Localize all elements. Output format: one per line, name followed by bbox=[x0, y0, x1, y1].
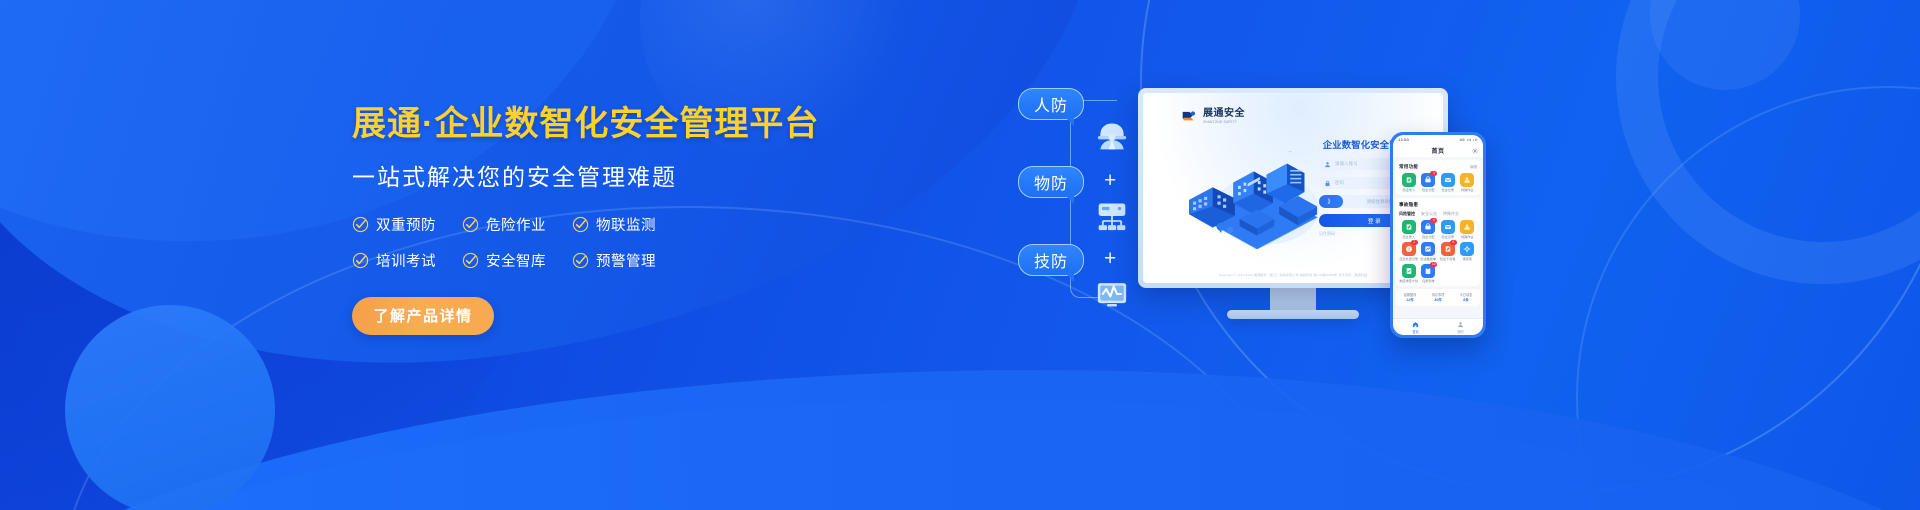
hero-banner: 展通·企业数智化安全管理平台 一站式解决您的安全管理难题 双重预防 危险作业 bbox=[0, 0, 1920, 510]
kpi-value: 12件 bbox=[1406, 298, 1414, 303]
tabbar-item-home[interactable]: 首页 bbox=[1412, 321, 1419, 334]
home-icon bbox=[1412, 321, 1419, 328]
tab-item[interactable]: 风险管控 bbox=[1399, 211, 1415, 217]
phone-page-title: 首页 bbox=[1431, 146, 1444, 155]
tabbar-item-profile[interactable]: 我的 bbox=[1457, 321, 1464, 334]
app-tile[interactable]: 2 应急处置记录 bbox=[1399, 242, 1419, 261]
kpi-item: 今日动态 8条 bbox=[1460, 292, 1473, 303]
badge-label: 物防 bbox=[1034, 170, 1068, 194]
phone-tab-bar: 首页 我的 bbox=[1393, 318, 1483, 335]
app-tile-label: 隐患整改单 bbox=[1421, 258, 1436, 262]
tabbar-label: 首页 bbox=[1412, 329, 1418, 334]
badge-count: 4 bbox=[1430, 171, 1437, 176]
app-tile-label: 隐患录入 bbox=[1403, 236, 1415, 240]
app-tile[interactable]: 特殊作业 bbox=[1458, 173, 1478, 192]
kpi-value: 36件 bbox=[1434, 298, 1442, 303]
section-header: 常用功能 编辑 bbox=[1399, 164, 1477, 170]
tab-item[interactable]: 特殊作业 bbox=[1443, 211, 1459, 217]
status-indicators: 46 ıll ıll bbox=[1460, 137, 1478, 142]
kpi-item: 逾期整改 12件 bbox=[1404, 292, 1417, 303]
waveform-monitor-icon bbox=[1092, 274, 1132, 314]
feature-item: 预警管理 bbox=[572, 250, 678, 271]
brand-name-en: ZHANTONG SAFETY bbox=[1203, 121, 1245, 124]
gear-icon[interactable] bbox=[1472, 148, 1478, 154]
edit-doc-icon: 6 bbox=[1441, 242, 1455, 256]
device-showcase: 人防 + 物防 + bbox=[1010, 60, 1870, 460]
feature-item: 物联监测 bbox=[572, 214, 678, 235]
page-subtitle: 一站式解决您的安全管理难题 bbox=[352, 158, 822, 192]
badge-jifang[interactable]: 技防 bbox=[1018, 244, 1084, 276]
zhantong-logo-icon bbox=[1181, 109, 1198, 124]
app-tile-label: 应急处置记录 bbox=[1399, 258, 1418, 262]
username-placeholder: 请输入账号 bbox=[1335, 161, 1358, 167]
lock-icon bbox=[1324, 180, 1331, 187]
phone-status-bar: 13:50 46 ıll ıll bbox=[1393, 135, 1483, 144]
phone-section-common: 常用功能 编辑 隐患录入 4 bbox=[1396, 160, 1480, 195]
app-tile[interactable]: 特殊作业 bbox=[1458, 220, 1478, 239]
worker-helmet-icon bbox=[1092, 116, 1132, 156]
app-tile[interactable]: 10 任务安排 bbox=[1419, 264, 1439, 283]
badge-label: 技防 bbox=[1034, 248, 1068, 272]
app-tile-label: 隐患不合格 bbox=[1440, 258, 1455, 262]
phone-app-header: 首页 bbox=[1393, 144, 1483, 157]
feature-label: 安全智库 bbox=[486, 250, 546, 271]
chart-icon bbox=[1421, 242, 1435, 256]
app-tile-label: 隐患记录 bbox=[1442, 189, 1454, 193]
phone-section-hazard: 事故隐患 风险管控 安全公告 特殊作业 隐患录入 bbox=[1396, 198, 1480, 286]
feature-label: 危险作业 bbox=[486, 214, 546, 235]
app-tile[interactable]: 隐患整改单 bbox=[1419, 242, 1439, 261]
gear-icon bbox=[1460, 242, 1474, 256]
app-tile-label: 特殊作业 bbox=[1461, 189, 1473, 193]
app-tile-label: 隐患分配 bbox=[1422, 189, 1434, 193]
phone-screen: 13:50 46 ıll ıll 首页 常用功能 编辑 bbox=[1393, 135, 1483, 335]
kpi-label: 待办事项 bbox=[1432, 292, 1445, 297]
badge-count: 6 bbox=[1450, 240, 1457, 245]
warning-icon bbox=[1460, 220, 1474, 234]
tabbar-label: 我的 bbox=[1457, 329, 1463, 334]
password-placeholder: 密码 bbox=[1335, 180, 1344, 186]
app-tile[interactable]: 排查项 bbox=[1458, 242, 1478, 261]
assign-icon: 4 bbox=[1421, 220, 1435, 234]
app-tile-label: 隐患记录 bbox=[1442, 236, 1454, 240]
feature-label: 双重预防 bbox=[376, 214, 436, 235]
mobile-phone-mockup: 13:50 46 ıll ıll 首页 常用功能 编辑 bbox=[1390, 132, 1486, 338]
section-title: 事故隐患 bbox=[1399, 202, 1418, 208]
kpi-label: 逾期整改 bbox=[1404, 292, 1417, 297]
app-tile[interactable]: 4 隐患分配 bbox=[1419, 220, 1439, 239]
feature-item: 安全智库 bbox=[462, 250, 568, 271]
app-tile-label: 隐患录入 bbox=[1403, 189, 1415, 193]
app-tile-label: 隐患分配 bbox=[1422, 236, 1434, 240]
check-circle-icon bbox=[462, 252, 479, 269]
app-tile[interactable]: 隐患记录 bbox=[1438, 173, 1458, 192]
isometric-city-illustration bbox=[1177, 151, 1337, 249]
monitor-stand-neck bbox=[1270, 288, 1316, 310]
warning-icon bbox=[1460, 173, 1474, 187]
app-tile[interactable]: 隐患记录 bbox=[1438, 220, 1458, 239]
monitor-brand: 展通安全 ZHANTONG SAFETY bbox=[1181, 109, 1245, 124]
assign-icon: 4 bbox=[1421, 173, 1435, 187]
app-tile-label: 排查项 bbox=[1463, 258, 1472, 262]
section-header: 事故隐患 bbox=[1399, 202, 1477, 208]
badge-count: 4 bbox=[1430, 218, 1437, 223]
app-tile[interactable]: 4 隐患分配 bbox=[1419, 173, 1439, 192]
check-circle-icon bbox=[572, 252, 589, 269]
app-tile-label: 特殊作业 bbox=[1461, 236, 1473, 240]
mail-icon bbox=[1441, 173, 1455, 187]
section-title: 常用功能 bbox=[1399, 164, 1418, 170]
check-circle-icon bbox=[352, 252, 369, 269]
mail-icon bbox=[1441, 220, 1455, 234]
kpi-value: 8条 bbox=[1463, 298, 1469, 303]
accent-circle-bottom-left bbox=[65, 305, 275, 510]
brand-text: 展通安全 ZHANTONG SAFETY bbox=[1203, 109, 1245, 124]
remember-password-checkbox[interactable]: 记住密码 bbox=[1319, 231, 1335, 237]
kpi-item: 待办事项 36件 bbox=[1432, 292, 1445, 303]
network-device-icon bbox=[1092, 196, 1132, 236]
badge-label: 人防 bbox=[1034, 92, 1068, 116]
edit-doc-icon bbox=[1402, 220, 1416, 234]
badge-wufang[interactable]: 物防 bbox=[1018, 166, 1084, 198]
icon-grid: 隐患录入 4 隐患分配 bbox=[1399, 220, 1477, 283]
app-tile[interactable]: 隐患录入 bbox=[1399, 173, 1419, 192]
feature-item: 双重预防 bbox=[352, 214, 458, 235]
icon-grid: 隐患录入 4 隐患分配 bbox=[1399, 173, 1477, 192]
status-time: 13:50 bbox=[1398, 137, 1409, 142]
plus-sign: + bbox=[1104, 248, 1116, 269]
phone-kpi-row: 逾期整改 12件 待办事项 36件 今日动态 8条 bbox=[1396, 289, 1480, 306]
app-tile[interactable]: 隐患录入 bbox=[1399, 220, 1419, 239]
check-circle-icon bbox=[462, 216, 479, 233]
learn-more-button[interactable]: 了解产品详情 bbox=[352, 297, 494, 335]
app-tile[interactable]: 制定排查计划 bbox=[1399, 264, 1419, 283]
person-icon bbox=[1457, 321, 1464, 328]
feature-label: 预警管理 bbox=[596, 250, 656, 271]
feature-label: 物联监测 bbox=[596, 214, 656, 235]
kpi-label: 今日动态 bbox=[1460, 292, 1473, 297]
badge-count: 10 bbox=[1430, 262, 1437, 267]
plus-sign: + bbox=[1104, 170, 1116, 191]
feature-list: 双重预防 危险作业 物联监测 bbox=[352, 214, 822, 271]
brand-name-cn: 展通安全 bbox=[1203, 109, 1245, 119]
check-circle-icon bbox=[352, 216, 369, 233]
badge-renfang[interactable]: 人防 bbox=[1018, 88, 1084, 120]
feature-item: 危险作业 bbox=[462, 214, 568, 235]
check-doc-icon bbox=[1402, 264, 1416, 278]
protection-rail: 人防 + 物防 + bbox=[1010, 78, 1150, 328]
app-tile[interactable]: 6 隐患不合格 bbox=[1438, 242, 1458, 261]
user-icon bbox=[1324, 161, 1331, 168]
badge-count: 2 bbox=[1411, 240, 1418, 245]
app-tile-label: 任务安排 bbox=[1422, 280, 1434, 284]
slider-knob[interactable]: 》 bbox=[1319, 195, 1343, 208]
tab-item[interactable]: 安全公告 bbox=[1421, 211, 1437, 217]
app-tile-label: 制定排查计划 bbox=[1399, 280, 1418, 284]
check-circle-icon bbox=[572, 216, 589, 233]
clipboard-icon: 10 bbox=[1421, 264, 1435, 278]
feature-label: 培训考试 bbox=[376, 250, 436, 271]
hero-copy: 展通·企业数智化安全管理平台 一站式解决您的安全管理难题 双重预防 危险作业 bbox=[352, 104, 822, 335]
alert-icon: 2 bbox=[1402, 242, 1416, 256]
feature-item: 培训考试 bbox=[352, 250, 458, 271]
page-title: 展通·企业数智化安全管理平台 bbox=[352, 104, 822, 145]
edit-doc-icon bbox=[1402, 173, 1416, 187]
section-edit-link[interactable]: 编辑 bbox=[1470, 165, 1477, 170]
monitor-stand-base bbox=[1227, 310, 1359, 319]
section-tabs: 风险管控 安全公告 特殊作业 bbox=[1399, 211, 1477, 217]
